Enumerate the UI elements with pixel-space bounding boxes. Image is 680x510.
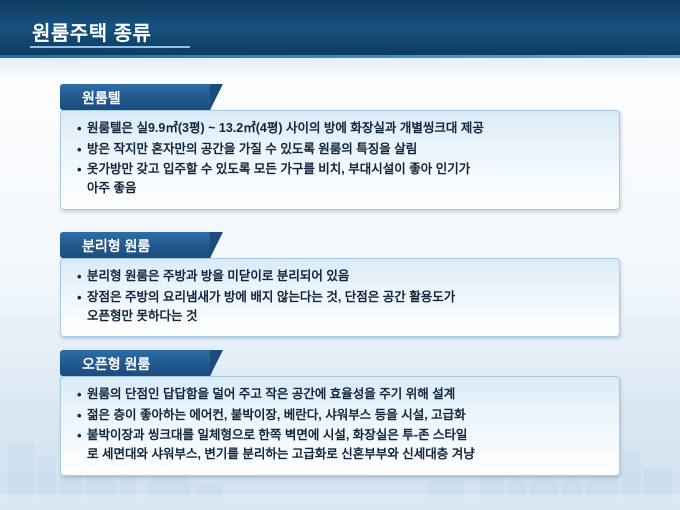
list-item: • 원룸의 단점인 답답함을 덜어 주고 작은 공간에 효율성을 주기 위해 설… <box>77 385 605 405</box>
list-item: • 장점은 주방의 요리냄새가 방에 배지 않는다는 것, 단점은 공간 활용도… <box>77 288 605 327</box>
section-label: 오픈형 원룸 <box>82 354 150 374</box>
section-label: 원룸텔 <box>82 88 121 108</box>
header-band <box>0 58 680 78</box>
bullet-text: 젊은 층이 좋아하는 에어컨, 붙박이장, 베란다, 샤워부스 등을 시설, 고… <box>87 406 605 425</box>
bullet-text: 붙박이장과 씽크대를 일체형으로 한쪽 벽면에 시설, 화장실은 투-존 스타일… <box>87 426 605 465</box>
section-body: • 원룸의 단점인 답답함을 덜어 주고 작은 공간에 효율성을 주기 위해 설… <box>60 376 620 476</box>
list-item: • 분리형 원룸은 주방과 방을 미닫이로 분리되어 있음 <box>77 267 605 287</box>
bullet-icon: • <box>77 160 87 180</box>
section-tab: 오픈형 원룸 <box>60 350 210 376</box>
list-item: • 붙박이장과 씽크대를 일체형으로 한쪽 벽면에 시설, 화장실은 투-존 스… <box>77 426 605 465</box>
tab-slant <box>210 350 223 376</box>
section-body: • 원룸텔은 실9.9㎡(3평) ~ 13.2㎡(4평) 사이의 방에 화장실과… <box>60 110 620 210</box>
bullet-icon: • <box>77 267 87 287</box>
list-item: • 방은 작지만 혼자만의 공간을 가질 수 있도록 원룸의 특징을 살림 <box>77 140 605 160</box>
list-item: • 젊은 층이 좋아하는 에어컨, 붙박이장, 베란다, 샤워부스 등을 시설,… <box>77 406 605 426</box>
bullet-text: 분리형 원룸은 주방과 방을 미닫이로 분리되어 있음 <box>87 267 605 286</box>
section-open-wonroom: 오픈형 원룸 • 원룸의 단점인 답답함을 덜어 주고 작은 공간에 효율성을 … <box>60 350 620 476</box>
bullet-icon: • <box>77 288 87 308</box>
list-item: • 옷가방만 갖고 입주할 수 있도록 모든 가구를 비치, 부대시설이 좋아 … <box>77 160 605 199</box>
section-body: • 분리형 원룸은 주방과 방을 미닫이로 분리되어 있음 • 장점은 주방의 … <box>60 258 620 337</box>
bullet-text: 원룸텔은 실9.9㎡(3평) ~ 13.2㎡(4평) 사이의 방에 화장실과 개… <box>87 119 605 138</box>
bullet-text: 옷가방만 갖고 입주할 수 있도록 모든 가구를 비치, 부대시설이 좋아 인기… <box>87 160 605 199</box>
bullet-text: 장점은 주방의 요리냄새가 방에 배지 않는다는 것, 단점은 공간 활용도가 … <box>87 288 605 327</box>
tab-slant <box>210 84 223 110</box>
bullet-text: 방은 작지만 혼자만의 공간을 가질 수 있도록 원룸의 특징을 살림 <box>87 140 605 159</box>
bullet-icon: • <box>77 426 87 446</box>
bullet-text: 원룸의 단점인 답답함을 덜어 주고 작은 공간에 효율성을 주기 위해 설계 <box>87 385 605 404</box>
bullet-icon: • <box>77 140 87 160</box>
page-title: 원룸주택 종류 <box>32 17 151 46</box>
bullet-icon: • <box>77 119 87 139</box>
tab-slant <box>210 232 223 258</box>
section-label: 분리형 원룸 <box>82 236 150 256</box>
section-tab: 원룸텔 <box>60 84 210 110</box>
bullet-icon: • <box>77 406 87 426</box>
list-item: • 원룸텔은 실9.9㎡(3평) ~ 13.2㎡(4평) 사이의 방에 화장실과… <box>77 119 605 139</box>
slide: 원룸주택 종류 원룸텔 • 원룸텔은 실9.9㎡(3평) ~ 13.2㎡(4평)… <box>0 0 680 510</box>
section-wonroomtel: 원룸텔 • 원룸텔은 실9.9㎡(3평) ~ 13.2㎡(4평) 사이의 방에 … <box>60 84 620 210</box>
slide-title-bar: 원룸주택 종류 <box>0 0 680 58</box>
section-separated-wonroom: 분리형 원룸 • 분리형 원룸은 주방과 방을 미닫이로 분리되어 있음 • 장… <box>60 232 620 337</box>
bullet-icon: • <box>77 385 87 405</box>
section-tab: 분리형 원룸 <box>60 232 210 258</box>
title-underline <box>30 46 190 48</box>
